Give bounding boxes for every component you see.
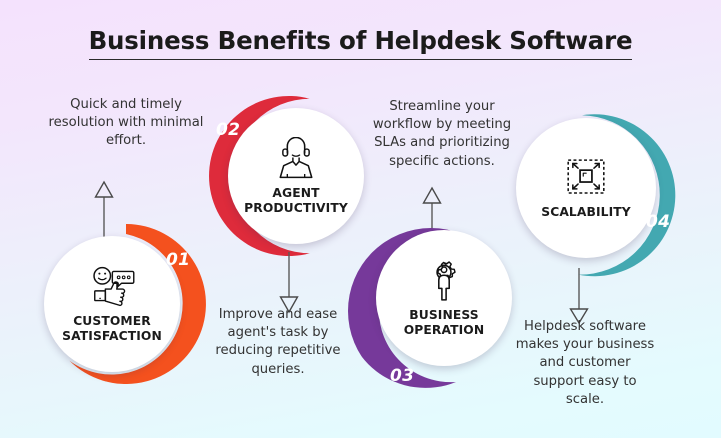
node-01-number: 01	[166, 250, 190, 270]
expand-arrows-scale-icon	[563, 156, 609, 198]
node-02-label: AGENT PRODUCTIVITY	[244, 186, 348, 215]
thumbs-up-smiley-chat-icon	[89, 265, 135, 307]
infographic-canvas: Business Benefits of Helpdesk Software Q…	[0, 0, 721, 438]
node-04-label-line1: SCALABILITY	[541, 205, 631, 220]
description-01: Quick and timely resolution with minimal…	[48, 96, 204, 151]
connector-arrow-02	[278, 252, 300, 314]
person-in-gear-icon	[421, 259, 467, 301]
node-01[interactable]: CUSTOMER SATISFACTION 01	[44, 222, 208, 386]
node-02-disc[interactable]: AGENT PRODUCTIVITY	[228, 108, 364, 244]
node-01-label-line2: SATISFACTION	[62, 329, 162, 344]
node-03-label: BUSINESS OPERATION	[404, 308, 485, 337]
node-02-number: 02	[216, 120, 240, 140]
node-04-number: 04	[646, 212, 670, 232]
node-03-disc[interactable]: BUSINESS OPERATION	[376, 230, 512, 366]
description-03: Streamline your workflow by meeting SLAs…	[372, 98, 512, 171]
node-01-disc[interactable]: CUSTOMER SATISFACTION	[44, 236, 180, 372]
description-04: Helpdesk software makes your business an…	[514, 318, 656, 409]
description-02: Improve and ease agent's task by reducin…	[208, 306, 348, 379]
node-03-number: 03	[390, 366, 414, 386]
node-02[interactable]: AGENT PRODUCTIVITY 02	[200, 94, 364, 258]
support-agent-headset-icon	[273, 137, 319, 179]
node-03[interactable]: BUSINESS OPERATION 03	[348, 228, 514, 394]
node-03-label-line1: BUSINESS	[404, 308, 485, 323]
node-02-label-line2: PRODUCTIVITY	[244, 201, 348, 216]
node-01-label: CUSTOMER SATISFACTION	[62, 314, 162, 343]
node-04-disc[interactable]: SCALABILITY	[516, 118, 656, 258]
node-04[interactable]: SCALABILITY 04	[516, 112, 682, 278]
node-03-label-line2: OPERATION	[404, 323, 485, 338]
node-04-label: SCALABILITY	[541, 205, 631, 220]
node-01-label-line1: CUSTOMER	[62, 314, 162, 329]
page-title: Business Benefits of Helpdesk Software	[0, 26, 721, 55]
page-title-text: Business Benefits of Helpdesk Software	[89, 26, 633, 60]
connector-arrow-04	[568, 268, 590, 324]
node-02-label-line1: AGENT	[244, 186, 348, 201]
